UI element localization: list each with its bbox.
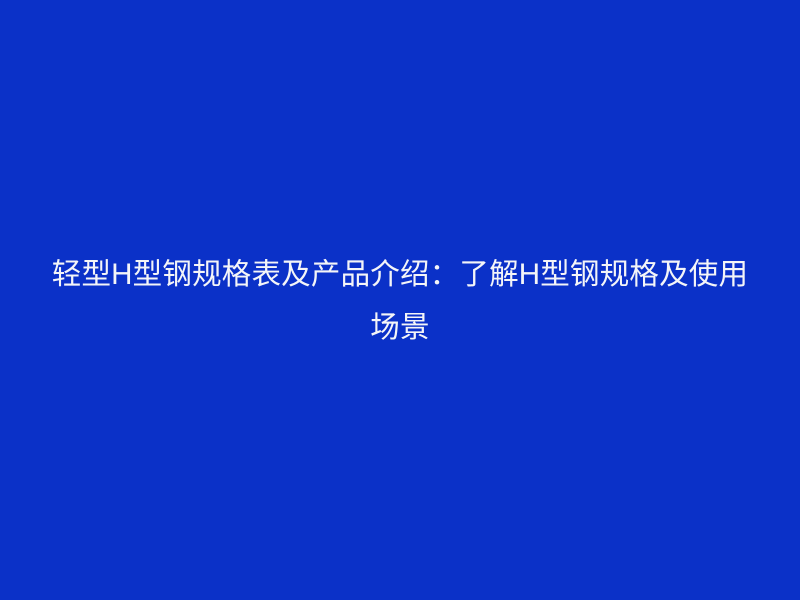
page-title: 轻型H型钢规格表及产品介绍：了解H型钢规格及使用场景: [38, 248, 762, 354]
title-banner: 轻型H型钢规格表及产品介绍：了解H型钢规格及使用场景: [0, 0, 800, 600]
headline-block: 轻型H型钢规格表及产品介绍：了解H型钢规格及使用场景: [0, 248, 800, 354]
